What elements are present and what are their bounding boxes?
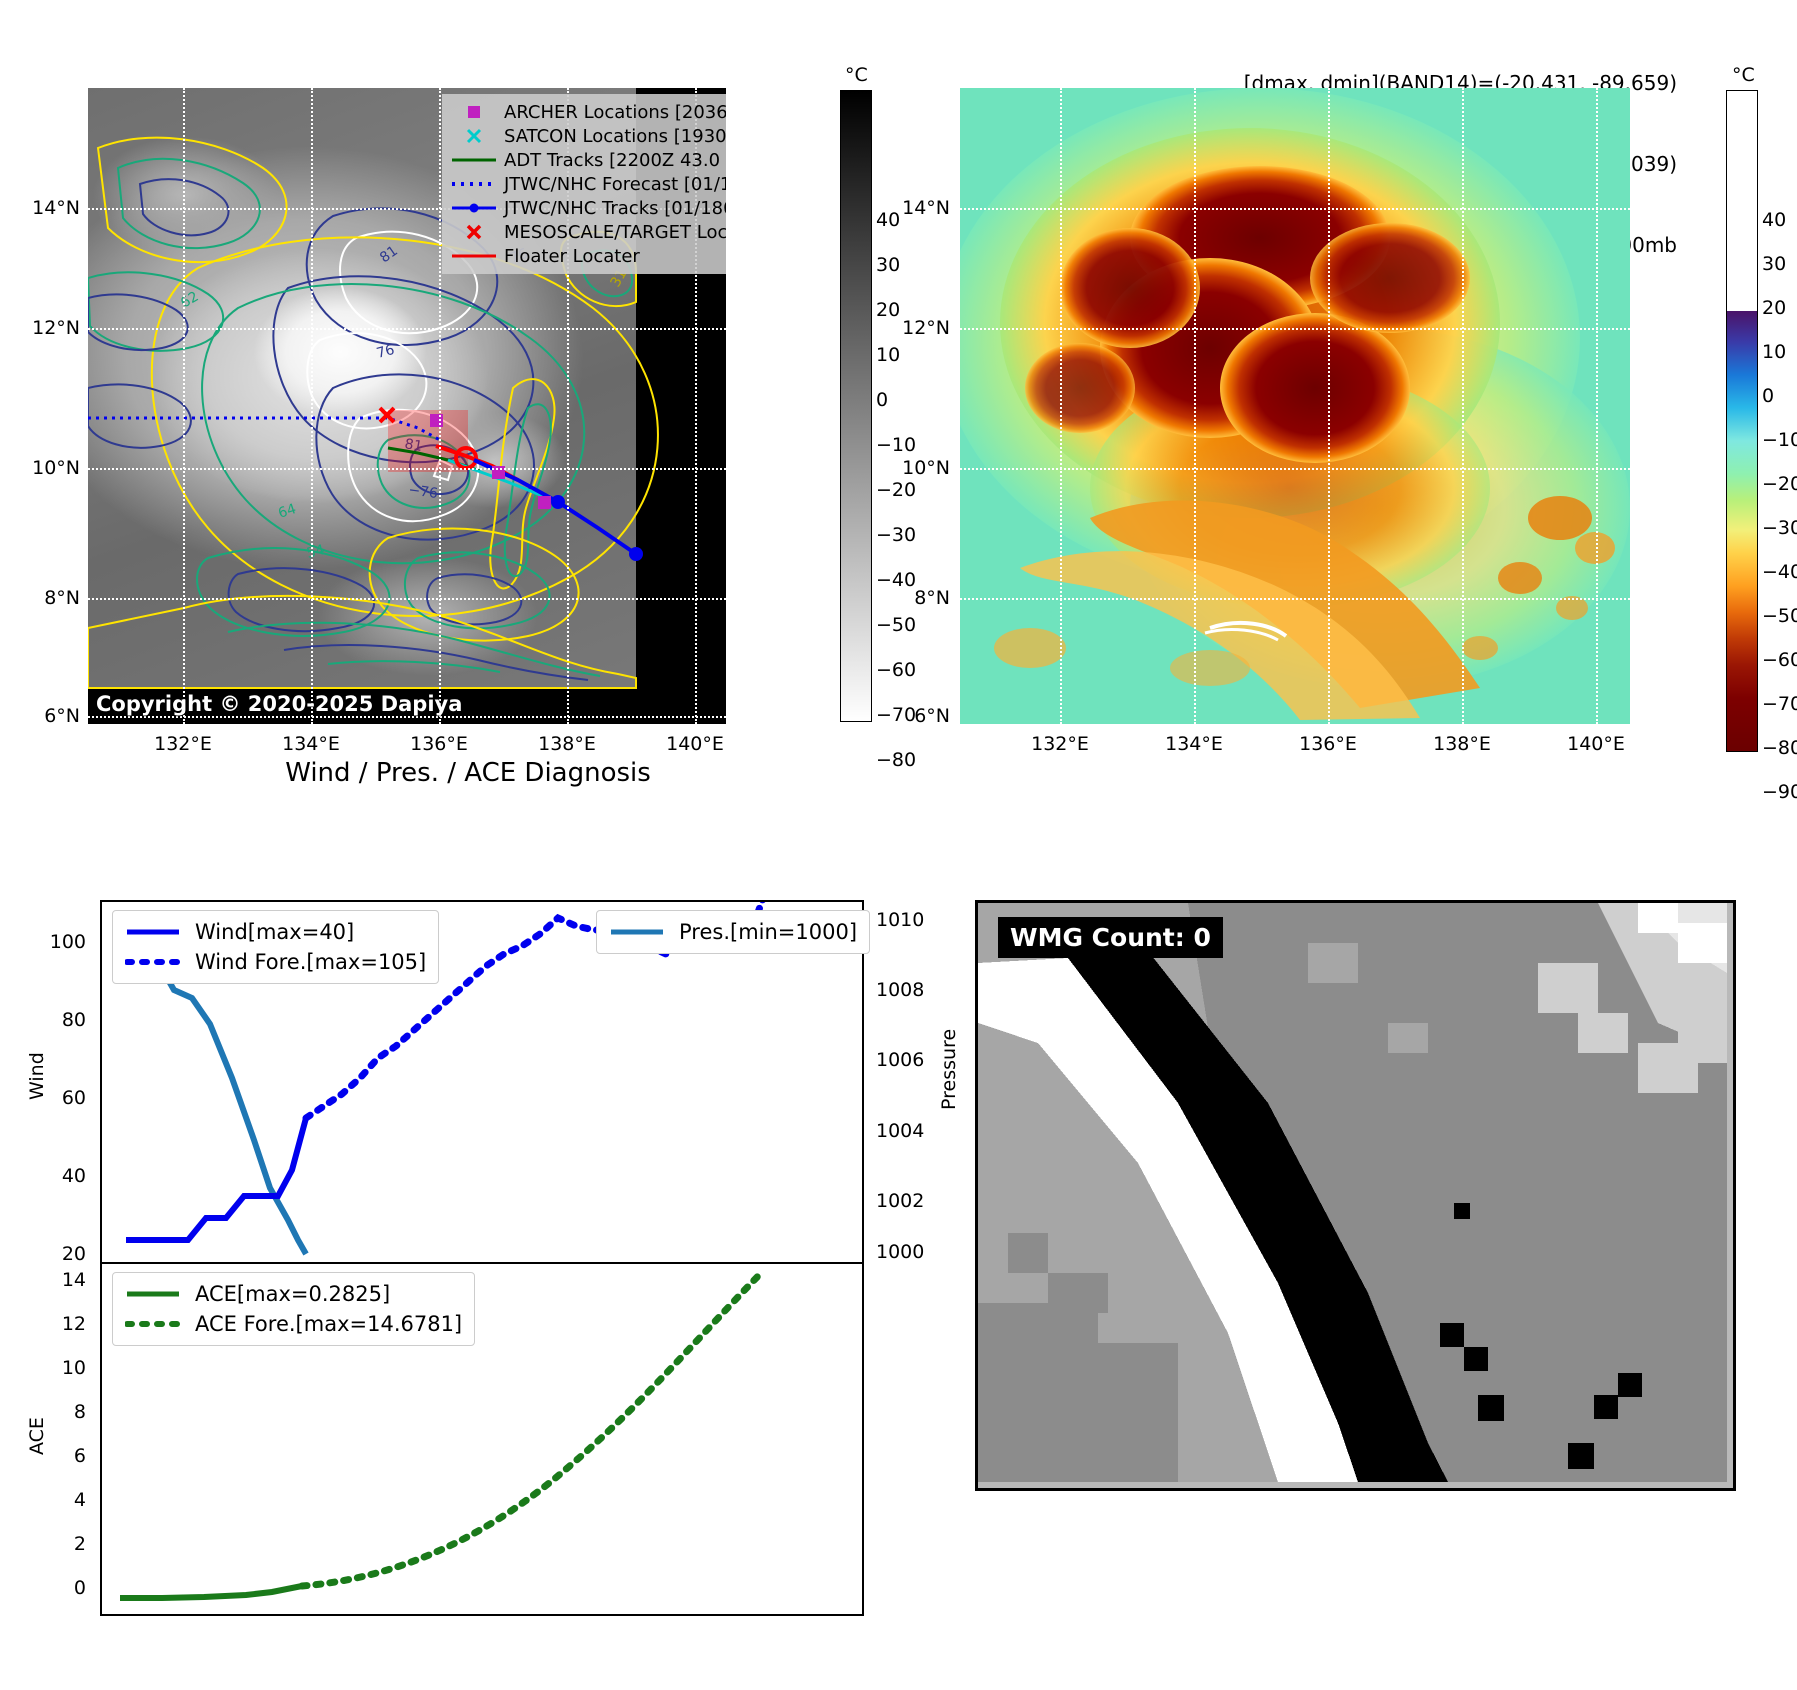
wind-legend-label: Wind[max=40] (195, 920, 354, 944)
awv-cb-tick-10: 10 (1762, 341, 1786, 363)
ace-ytick-4: 4 (74, 1489, 86, 1511)
awv-lat-tick-10N: 10°N (902, 457, 950, 479)
wmg-count-badge: WMG Count: 0 (998, 917, 1223, 958)
legend-item-archer: ARCHER Locations [2036Z] (450, 100, 726, 124)
wmg-imagery (978, 903, 1727, 1482)
ir-lon-tick-136E: 136°E (410, 733, 468, 755)
awv-cb-tick-m70: −70 (1762, 693, 1797, 715)
legend-item-mesoscale: MESOSCALE/TARGET Location (450, 220, 726, 244)
awv-gridline-h3 (960, 468, 1630, 470)
ir-lat-tick-14N: 14°N (32, 197, 80, 219)
ace-legend-label: ACE[max=0.2825] (195, 1282, 390, 1306)
forecast-dotted-line-icon (450, 179, 498, 189)
wind-ytick-80: 80 (62, 1009, 86, 1031)
ace-line-icon (125, 1289, 187, 1299)
awv-lat-tick-12N: 12°N (902, 317, 950, 339)
pres-ytick-1000: 1000 (876, 1241, 924, 1263)
awv-cb-tick-m80: −80 (1762, 737, 1797, 759)
ir-lon-tick-132E: 132°E (154, 733, 212, 755)
ir-lon-tick-134E: 134°E (282, 733, 340, 755)
satcon-x-icon (450, 127, 498, 145)
legend-item-forecast: JTWC/NHC Forecast [01/1800Z] (450, 172, 726, 196)
ir-gridline-h4 (88, 598, 726, 600)
awv-lon-tick-136E: 136°E (1299, 733, 1357, 755)
ace-ytick-14: 14 (62, 1269, 86, 1291)
ace-ytick-12: 12 (62, 1313, 86, 1335)
awv-cb-tick-m60: −60 (1762, 649, 1797, 671)
ir-gridline-v3 (439, 88, 441, 724)
ir-gridline-h3 (88, 468, 726, 470)
wind-ytick-60: 60 (62, 1087, 86, 1109)
awv-lat-tick-14N: 14°N (902, 197, 950, 219)
awv-lat-axis: 14°N 12°N 10°N 8°N 6°N (880, 88, 956, 724)
awv-colorbar (1726, 90, 1758, 752)
wind-legend: Wind[max=40] Wind Fore.[max=105] (112, 910, 439, 984)
legend-item-satcon: SATCON Locations [1930Z 40 1001] (450, 124, 726, 148)
ace-forecast-legend-item: ACE Fore.[max=14.6781] (125, 1309, 462, 1339)
ace-ytick-10: 10 (62, 1357, 86, 1379)
awv-gridline-v2 (1194, 88, 1196, 724)
ir-gridline-h5 (88, 716, 726, 718)
wind-axis-label: Wind (26, 1052, 48, 1100)
ir-cb-tick-m80: −80 (876, 749, 916, 771)
awv-cb-tick-30: 30 (1762, 253, 1786, 275)
wind-legend-item-forecast: Wind Fore.[max=105] (125, 947, 426, 977)
ir-colorbar (840, 90, 872, 722)
ace-forecast-legend-label: ACE Fore.[max=14.6781] (195, 1312, 462, 1336)
wind-forecast-dotted-icon (125, 957, 187, 967)
svg-text:81: 81 (377, 243, 401, 266)
ace-forecast-dotted-icon (125, 1319, 187, 1329)
mesoscale-x-icon (450, 223, 498, 241)
pressure-legend-label: Pres.[min=1000] (679, 920, 857, 944)
ace-ytick-6: 6 (74, 1445, 86, 1467)
ir-gridline-v1 (183, 88, 185, 724)
awv-cb-tick-40: 40 (1762, 209, 1786, 231)
ace-legend: ACE[max=0.2825] ACE Fore.[max=14.6781] (112, 1272, 475, 1346)
pres-ytick-1008: 1008 (876, 979, 924, 1001)
ir-lon-tick-140E: 140°E (666, 733, 724, 755)
legend-item-adt: ADT Tracks [2200Z 43.0 1003.3] (450, 148, 726, 172)
copyright-text: Copyright © 2020-2025 Dapiya (96, 692, 462, 716)
awv-lon-axis: 132°E 134°E 136°E 138°E 140°E (960, 730, 1630, 760)
svg-text:−76: −76 (407, 482, 439, 502)
ir-lat-axis: 14°N 12°N 10°N 8°N 6°N (10, 88, 86, 724)
awv-cb-tick-m10: −10 (1762, 429, 1797, 451)
awv-lon-tick-138E: 138°E (1433, 733, 1491, 755)
pres-ytick-1002: 1002 (876, 1190, 924, 1212)
diagnosis-title: Wind / Pres. / ACE Diagnosis (88, 758, 848, 788)
awv-gridline-v4 (1462, 88, 1464, 724)
svg-text:62: 62 (178, 289, 201, 312)
ace-axis-label: ACE (26, 1417, 48, 1455)
legend-label-satcon: SATCON Locations [1930Z 40 1001] (504, 126, 726, 147)
awv-lon-tick-132E: 132°E (1031, 733, 1089, 755)
adt-line-icon (450, 155, 498, 165)
awv-colorbar-ticks: 40 30 20 10 0 −10 −20 −30 −40 −50 −60 −7… (1762, 90, 1797, 750)
legend-label-forecast: JTWC/NHC Forecast [01/1800Z] (504, 174, 726, 195)
legend-label-mesoscale: MESOSCALE/TARGET Location (504, 222, 726, 243)
awv-cb-tick-m40: −40 (1762, 561, 1797, 583)
awv-gridline-h4 (960, 598, 1630, 600)
pressure-legend-item: Pres.[min=1000] (609, 917, 857, 947)
awv-cb-tick-m50: −50 (1762, 605, 1797, 627)
awv-gridline-h2 (960, 328, 1630, 330)
jtwc-line-dot-icon (450, 202, 498, 214)
awv-gridline-v5 (1596, 88, 1598, 724)
awv-cb-tick-m30: −30 (1762, 517, 1797, 539)
pres-ytick-1010: 1010 (876, 909, 924, 931)
ace-ytick-2: 2 (74, 1533, 86, 1555)
svg-text:54: 54 (305, 542, 326, 562)
ir-legend: ARCHER Locations [2036Z] SATCON Location… (442, 94, 726, 274)
awv-cb-tick-0: 0 (1762, 385, 1774, 407)
legend-item-floater: Floater Locater (450, 244, 726, 268)
ace-ytick-0: 0 (74, 1577, 86, 1599)
awv-gridline-v1 (1060, 88, 1062, 724)
wind-forecast-legend-label: Wind Fore.[max=105] (195, 950, 426, 974)
ace-line (120, 1586, 302, 1598)
wind-legend-item-wind: Wind[max=40] (125, 917, 426, 947)
awv-colorbar-unit: °C (1732, 64, 1755, 86)
legend-item-jtwc-tracks: JTWC/NHC Tracks [01/1800Z] (450, 196, 726, 220)
ace-ytick-8: 8 (74, 1401, 86, 1423)
ir-lat-tick-10N: 10°N (32, 457, 80, 479)
ir-colorbar-unit: °C (845, 64, 868, 86)
wind-ytick-100: 100 (50, 931, 86, 953)
ir-lon-tick-138E: 138°E (538, 733, 596, 755)
awv-cb-tick-m20: −20 (1762, 473, 1797, 495)
awv-gridline-v3 (1328, 88, 1330, 724)
awv-cb-tick-20: 20 (1762, 297, 1786, 319)
legend-label-adt: ADT Tracks [2200Z 43.0 1003.3] (504, 150, 726, 171)
awv-gridline-h1 (960, 208, 1630, 210)
ir-target-area-image[interactable]: 81 76 76 81 −76 64 54 62 31 (88, 88, 726, 724)
wind-ytick-40: 40 (62, 1165, 86, 1187)
ir-gridline-h2 (88, 328, 726, 330)
ace-legend-item: ACE[max=0.2825] (125, 1279, 462, 1309)
pres-ytick-1004: 1004 (876, 1120, 924, 1142)
pres-ytick-1006: 1006 (876, 1049, 924, 1071)
awv-lon-tick-140E: 140°E (1567, 733, 1625, 755)
legend-label-jtwc-tracks: JTWC/NHC Tracks [01/1800Z] (504, 198, 726, 219)
legend-label-floater: Floater Locater (504, 246, 640, 267)
ir-lon-axis: 132°E 134°E 136°E 138°E 140°E (88, 730, 726, 760)
svg-text:64: 64 (276, 501, 298, 522)
wmg-panel[interactable]: WMG Count: 0 (975, 900, 1736, 1491)
ir-lat-tick-6N: 6°N (44, 705, 80, 727)
wind-line (126, 1118, 306, 1240)
awv-cb-tick-m90: −90 (1762, 781, 1797, 803)
legend-label-archer: ARCHER Locations [2036Z] (504, 102, 726, 123)
pressure-legend: Pres.[min=1000] (596, 910, 870, 954)
pressure-line-icon (609, 927, 671, 937)
wind-line-icon (125, 927, 187, 937)
awv-lat-tick-6N: 6°N (914, 705, 950, 727)
awv-lon-tick-134E: 134°E (1165, 733, 1223, 755)
awv-lat-tick-8N: 8°N (914, 587, 950, 609)
floater-line-icon (450, 251, 498, 261)
ir-lat-tick-8N: 8°N (44, 587, 80, 609)
ir-gridline-v2 (311, 88, 313, 724)
pressure-axis-label: Pressure (938, 1029, 960, 1110)
awv-enhanced-image[interactable] (960, 88, 1630, 724)
archer-square-icon (450, 104, 498, 120)
ir-lat-tick-12N: 12°N (32, 317, 80, 339)
